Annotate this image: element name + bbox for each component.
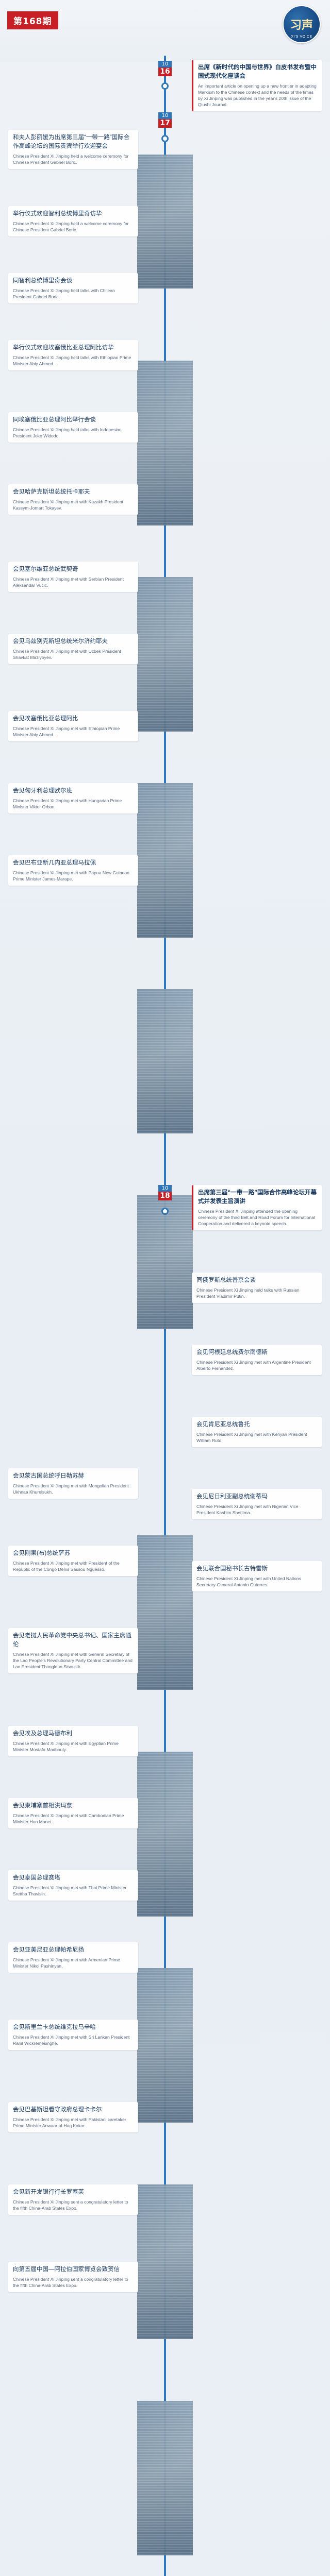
entry-title-cn: 会见斯里兰卡总统维克拉马辛哈: [13, 2023, 134, 2032]
entry-title-cn: 会见蒙古国总统呼日勒苏赫: [13, 1472, 134, 1481]
photo-strip: [137, 577, 193, 732]
logo-subtext: XI'S VOICE: [284, 35, 320, 39]
entry-title-cn: 会见亚美尼亚总理帕希尼扬: [13, 1946, 134, 1955]
entry-title-en: Chinese President Xi Jinping met with Ca…: [13, 1812, 134, 1825]
entry-title-en: Chinese President Xi Jinping met with Ni…: [196, 1503, 317, 1516]
timeline-entry[interactable]: 会见巴布亚新几内亚总理马拉佩 Chinese President Xi Jinp…: [8, 855, 138, 886]
timeline-dot: [161, 82, 169, 90]
entry-title-cn: 会见刚果(布)总统萨苏: [13, 1549, 134, 1558]
timeline-entry[interactable]: 会见塞尔维亚总统武契奇 Chinese President Xi Jinping…: [8, 562, 138, 592]
entry-title-en: Chinese President Xi Jinping held talks …: [13, 287, 134, 300]
timeline-entry[interactable]: 会见肯尼亚总统鲁托 Chinese President Xi Jinping m…: [192, 1417, 322, 1447]
entry-title-en: Chinese President Xi Jinping held talks …: [196, 1287, 317, 1299]
issue-badge: 第168期: [7, 11, 58, 29]
timeline-entry[interactable]: 举行仪式欢迎埃塞俄比亚总理阿比访华 Chinese President Xi J…: [8, 340, 138, 370]
photo-strip: [137, 361, 193, 526]
timeline-entry[interactable]: 会见哈萨克斯坦总统托卡耶夫 Chinese President Xi Jinpi…: [8, 484, 138, 515]
entry-title-cn: 会见巴布亚新几内亚总理马拉佩: [13, 859, 134, 868]
entry-title-cn: 会见柬埔寨首相洪玛奈: [13, 1802, 134, 1810]
entry-title-cn: 举行仪式欢迎埃塞俄比亚总理阿比访华: [13, 344, 134, 352]
entry-title-en: Chinese President Xi Jinping sent a cong…: [13, 2276, 134, 2289]
entry-title-en: Chinese President Xi Jinping attended th…: [198, 1208, 317, 1227]
entry-title-cn: 同埃塞俄比亚总理阿比举行会谈: [13, 416, 134, 425]
marker-day: 17: [158, 119, 172, 128]
entry-title-en: Chinese President Xi Jinping met with Ka…: [13, 499, 134, 511]
timeline-entry[interactable]: 会见柬埔寨首相洪玛奈 Chinese President Xi Jinping …: [8, 1798, 138, 1828]
entry-title-cn: 同俄罗斯总统普京会谈: [196, 1276, 317, 1285]
photo-strip: [137, 783, 193, 938]
entry-title-en: Chinese President Xi Jinping met with Th…: [13, 1885, 134, 1897]
timeline-entry[interactable]: 会见尼日利亚副总统谢蒂玛 Chinese President Xi Jinpin…: [192, 1489, 322, 1519]
timeline-entry[interactable]: 会见新开发银行行长罗塞芙 Chinese President Xi Jinpin…: [8, 2184, 138, 2215]
entry-title-cn: 会见埃及总理马德布利: [13, 1730, 134, 1738]
entry-title-cn: 出席《新时代的中国与世界》白皮书发布暨中国式现代化座谈会: [198, 63, 317, 81]
timeline-entry[interactable]: 出席第三届“一带一路”国际合作高峰论坛开幕式并发表主旨演讲 Chinese Pr…: [192, 1185, 322, 1230]
entry-title-cn: 会见埃塞俄比亚总理阿比: [13, 715, 134, 723]
timeline-entry[interactable]: 会见蒙古国总统呼日勒苏赫 Chinese President Xi Jinpin…: [8, 1468, 138, 1499]
timeline-entry[interactable]: 会见乌兹别克斯坦总统米尔济约耶夫 Chinese President Xi Ji…: [8, 634, 138, 664]
entry-title-cn: 会见肯尼亚总统鲁托: [196, 1420, 317, 1429]
entry-title-en: Chinese President Xi Jinping met with Ar…: [196, 1359, 317, 1371]
timeline-entry[interactable]: 会见泰国总理赛塔 Chinese President Xi Jinping me…: [8, 1870, 138, 1901]
entry-title-cn: 会见老挝人民革命党中央总书记、国家主席通伦: [13, 1632, 134, 1649]
entry-title-en: Chinese President Xi Jinping met with Pa…: [13, 870, 134, 882]
entry-title-en: Chinese President Xi Jinping met with Pa…: [13, 2116, 134, 2129]
entry-title-en: Chinese President Xi Jinping met with Uz…: [13, 648, 134, 660]
entry-title-cn: 会见巴基斯坦看守政府总理卡卡尔: [13, 2106, 134, 2114]
entry-title-cn: 出席第三届“一带一路”国际合作高峰论坛开幕式并发表主旨演讲: [198, 1189, 317, 1206]
timeline-entry[interactable]: 同埃塞俄比亚总理阿比举行会谈 Chinese President Xi Jinp…: [8, 412, 138, 443]
timeline-entry[interactable]: 会见匈牙利总理欧尔班 Chinese President Xi Jinping …: [8, 783, 138, 814]
entry-title-cn: 会见匈牙利总理欧尔班: [13, 787, 134, 795]
timeline-entry[interactable]: 向第五届中国—阿拉伯国家博览会致贺信 Chinese President Xi …: [8, 2262, 138, 2292]
marker-month: 10: [158, 1185, 172, 1192]
timeline-entry[interactable]: 同俄罗斯总统普京会谈 Chinese President Xi Jinping …: [192, 1273, 322, 1303]
entry-title-en: Chinese President Xi Jinping sent a cong…: [13, 2199, 134, 2211]
photo-strip: [137, 2184, 193, 2339]
timeline-entry[interactable]: 会见亚美尼亚总理帕希尼扬 Chinese President Xi Jinpin…: [8, 1942, 138, 1973]
entry-title-en: Chinese President Xi Jinping held talks …: [13, 427, 134, 439]
timeline-entry[interactable]: 会见老挝人民革命党中央总书记、国家主席通伦 Chinese President …: [8, 1628, 138, 1673]
timeline-entry[interactable]: 会见埃及总理马德布利 Chinese President Xi Jinping …: [8, 1726, 138, 1756]
entry-title-cn: 会见哈萨克斯坦总统托卡耶夫: [13, 488, 134, 497]
entry-title-cn: 同智利总统博里奇会谈: [13, 277, 134, 285]
timeline-entry[interactable]: 会见巴基斯坦看守政府总理卡卡尔 Chinese President Xi Jin…: [8, 2102, 138, 2132]
timeline-entry[interactable]: 会见埃塞俄比亚总理阿比 Chinese President Xi Jinping…: [8, 711, 138, 741]
timeline-entry[interactable]: 会见联合国秘书长古特雷斯 Chinese President Xi Jinpin…: [192, 1561, 322, 1591]
entry-title-cn: 会见阿根廷总统费尔南德斯: [196, 1348, 317, 1357]
marker-month: 10: [158, 112, 172, 119]
photo-strip: [137, 155, 193, 289]
photo-strip: [137, 989, 193, 1133]
entry-title-en: Chinese President Xi Jinping met with Et…: [13, 725, 134, 738]
entry-title-cn: 向第五届中国—阿拉伯国家博览会致贺信: [13, 2265, 134, 2274]
entry-title-cn: 和夫人彭丽媛为出席第三届“一带一路”国际合作高峰论坛的国际贵宾举行欢迎宴会: [13, 133, 134, 151]
entry-title-en: Chinese President Xi Jinping held talks …: [13, 354, 134, 367]
date-marker: 10 18: [155, 1185, 175, 1200]
timeline-entry[interactable]: 会见刚果(布)总统萨苏 Chinese President Xi Jinping…: [8, 1546, 138, 1576]
entry-title-en: Chinese President Xi Jinping met with Se…: [13, 576, 134, 588]
entry-title-en: Chinese President Xi Jinping met with Mo…: [13, 1483, 134, 1495]
timeline-entry[interactable]: 出席《新时代的中国与世界》白皮书发布暨中国式现代化座谈会 An importan…: [192, 60, 322, 111]
timeline-entry[interactable]: 会见斯里兰卡总统维克拉马辛哈 Chinese President Xi Jinp…: [8, 2020, 138, 2050]
timeline-dot: [161, 135, 169, 142]
date-marker: 10 17: [155, 112, 175, 128]
photo-strip: [137, 1968, 193, 2123]
entry-title-cn: 会见尼日利亚副总统谢蒂玛: [196, 1493, 317, 1501]
photo-strip: [137, 2401, 193, 2555]
date-marker: 10 16: [155, 61, 175, 76]
entry-title-cn: 会见新开发银行行长罗塞芙: [13, 2188, 134, 2197]
page-header: 第168期 习声 XI'S VOICE: [0, 0, 330, 62]
infographic-page: 第168期 习声 XI'S VOICE 10 16 10 17 10 18 10…: [0, 0, 330, 2576]
entry-title-cn: 举行仪式欢迎智利总统博里奇访华: [13, 210, 134, 218]
entry-title-cn: 会见塞尔维亚总统武契奇: [13, 565, 134, 574]
entry-title-en: An important article on opening up a new…: [198, 83, 317, 108]
entry-title-en: Chinese President Xi Jinping met with Hu…: [13, 798, 134, 810]
entry-title-en: Chinese President Xi Jinping met with Ke…: [196, 1431, 317, 1444]
timeline-entry[interactable]: 和夫人彭丽媛为出席第三届“一带一路”国际合作高峰论坛的国际贵宾举行欢迎宴会 Ch…: [8, 130, 138, 169]
entry-title-en: Chinese President Xi Jinping met with Un…: [196, 1575, 317, 1588]
timeline-entry[interactable]: 同智利总统博里奇会谈 Chinese President Xi Jinping …: [8, 273, 138, 303]
entry-title-en: Chinese President Xi Jinping held a welc…: [13, 153, 134, 165]
entry-title-en: Chinese President Xi Jinping met with Eg…: [13, 1740, 134, 1753]
marker-day: 18: [158, 1192, 172, 1200]
entry-title-en: Chinese President Xi Jinping held a welc…: [13, 221, 134, 233]
timeline-entry[interactable]: 会见阿根廷总统费尔南德斯 Chinese President Xi Jinpin…: [192, 1345, 322, 1375]
photo-strip: [137, 1535, 193, 1690]
entry-title-cn: 会见泰国总理赛塔: [13, 1874, 134, 1883]
marker-month: 10: [158, 61, 172, 67]
photo-strip: [137, 1752, 193, 1917]
entry-title-en: Chinese President Xi Jinping met with Ge…: [13, 1651, 134, 1670]
entry-title-cn: 会见乌兹别克斯坦总统米尔济约耶夫: [13, 637, 134, 646]
entry-title-en: Chinese President Xi Jinping met with Pr…: [13, 1560, 134, 1572]
timeline-dot: [161, 1208, 169, 1215]
entry-title-en: Chinese President Xi Jinping met with Ar…: [13, 1957, 134, 1969]
entry-title-cn: 会见联合国秘书长古特雷斯: [196, 1565, 317, 1573]
photo-strip: [137, 1195, 193, 1329]
timeline-entry[interactable]: 举行仪式欢迎智利总统博里奇访华 Chinese President Xi Jin…: [8, 206, 138, 236]
marker-day: 16: [158, 67, 172, 76]
program-logo: 习声 XI'S VOICE: [283, 5, 321, 43]
entry-title-en: Chinese President Xi Jinping met with Sr…: [13, 2034, 134, 2046]
